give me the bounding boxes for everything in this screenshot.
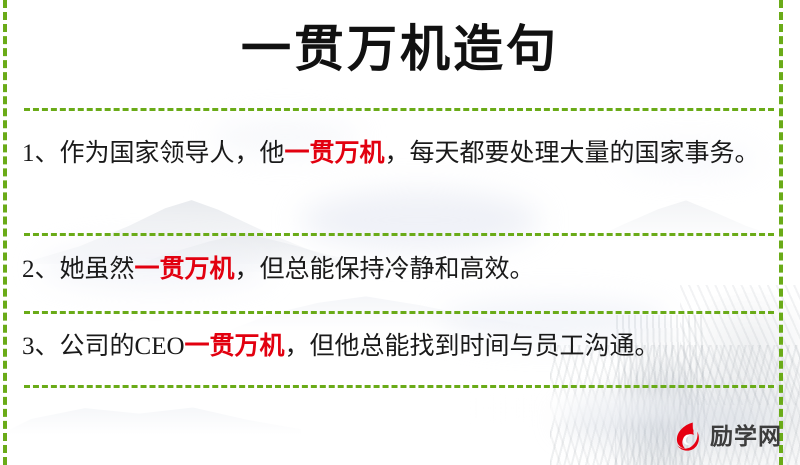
separator-line-2 — [24, 233, 774, 236]
sentence-before-1: 作为国家领导人，他 — [60, 140, 285, 167]
sentence-before-2: 她虽然 — [60, 256, 135, 283]
separator-line-3 — [24, 311, 774, 314]
sentence-item-1: 1、作为国家领导人，他一贯万机，每天都要处理大量的国家事务。 — [22, 134, 774, 174]
keyword-highlight-3: 一贯万机 — [185, 333, 285, 360]
background-wash — [300, 190, 540, 250]
page-title: 一贯万机造句 — [0, 22, 800, 77]
sentence-after-2: ，但总能保持冷静和高效。 — [235, 256, 535, 283]
watermark-brand-text: 励学网 — [710, 425, 782, 448]
separator-line-4 — [24, 385, 774, 388]
watermark-logo: 励学网 — [668, 418, 782, 454]
sentence-after-3: ，但他总能找到时间与员工沟通。 — [285, 333, 660, 360]
keyword-highlight-2: 一贯万机 — [135, 256, 235, 283]
sentence-after-1: ，每天都要处理大量的国家事务。 — [385, 140, 760, 167]
sentence-index-2: 2、 — [22, 256, 60, 283]
sentence-card-page: 一贯万机造句 1、作为国家领导人，他一贯万机，每天都要处理大量的国家事务。 2、… — [0, 0, 800, 465]
sentence-index-3: 3、 — [22, 333, 60, 360]
sentence-item-3: 3、公司的CEO一贯万机，但他总能找到时间与员工沟通。 — [22, 327, 774, 367]
left-dashed-rail — [3, 0, 7, 465]
separator-line-1 — [24, 108, 774, 111]
background-mountain — [230, 290, 570, 330]
sentence-item-2: 2、她虽然一贯万机，但总能保持冷静和高效。 — [22, 250, 774, 290]
right-dashed-rail — [779, 0, 783, 465]
background-mountain — [1, 400, 301, 434]
sentence-index-1: 1、 — [22, 140, 60, 167]
flame-swirl-icon — [668, 418, 704, 454]
keyword-highlight-1: 一贯万机 — [285, 140, 385, 167]
background-mist — [470, 395, 680, 421]
sentence-before-3: 公司的CEO — [60, 333, 185, 360]
